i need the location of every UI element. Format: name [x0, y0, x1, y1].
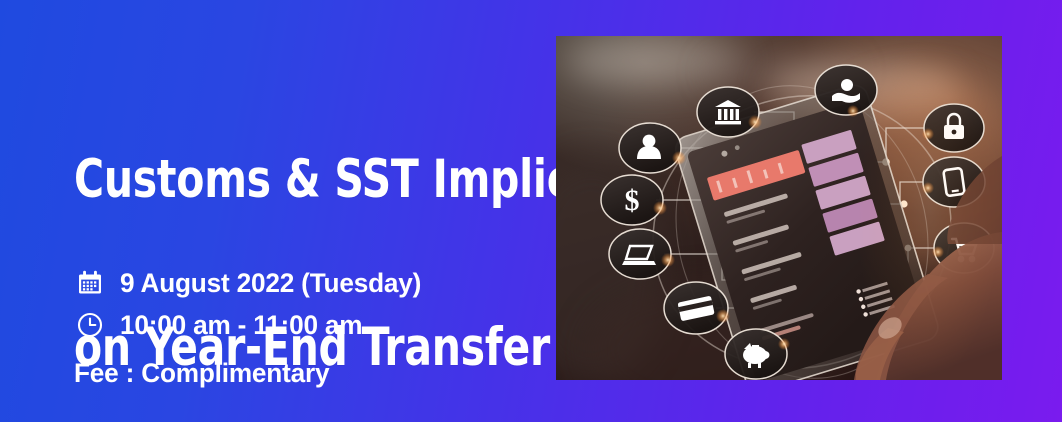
- event-fee-row: Fee : Complimentary: [74, 353, 544, 393]
- webinar-banner: Customs & SST Implications on Year-End T…: [0, 0, 1062, 422]
- event-fee: Fee : Complimentary: [74, 358, 329, 389]
- event-details: 9 August 2022 (Tuesday) 10:00 am - 11:00…: [74, 262, 544, 393]
- svg-text:$: $: [625, 184, 640, 217]
- title-line-1: Customs & SST Implications: [74, 152, 478, 208]
- icon-badge-dollar: $: [601, 175, 667, 225]
- event-date-row: 9 August 2022 (Tuesday): [74, 262, 544, 304]
- icon-badge-laptop: [609, 229, 675, 279]
- banner-photo: $: [556, 36, 1002, 380]
- event-time: 10:00 am - 11:00 am: [120, 310, 362, 341]
- calendar-icon: [74, 268, 120, 298]
- clock-icon: [74, 310, 120, 340]
- event-date: 9 August 2022 (Tuesday): [120, 268, 421, 299]
- banner-text-column: Customs & SST Implications on Year-End T…: [74, 40, 544, 422]
- event-time-row: 10:00 am - 11:00 am: [74, 304, 544, 346]
- fintech-network-illustration: $: [556, 36, 1002, 380]
